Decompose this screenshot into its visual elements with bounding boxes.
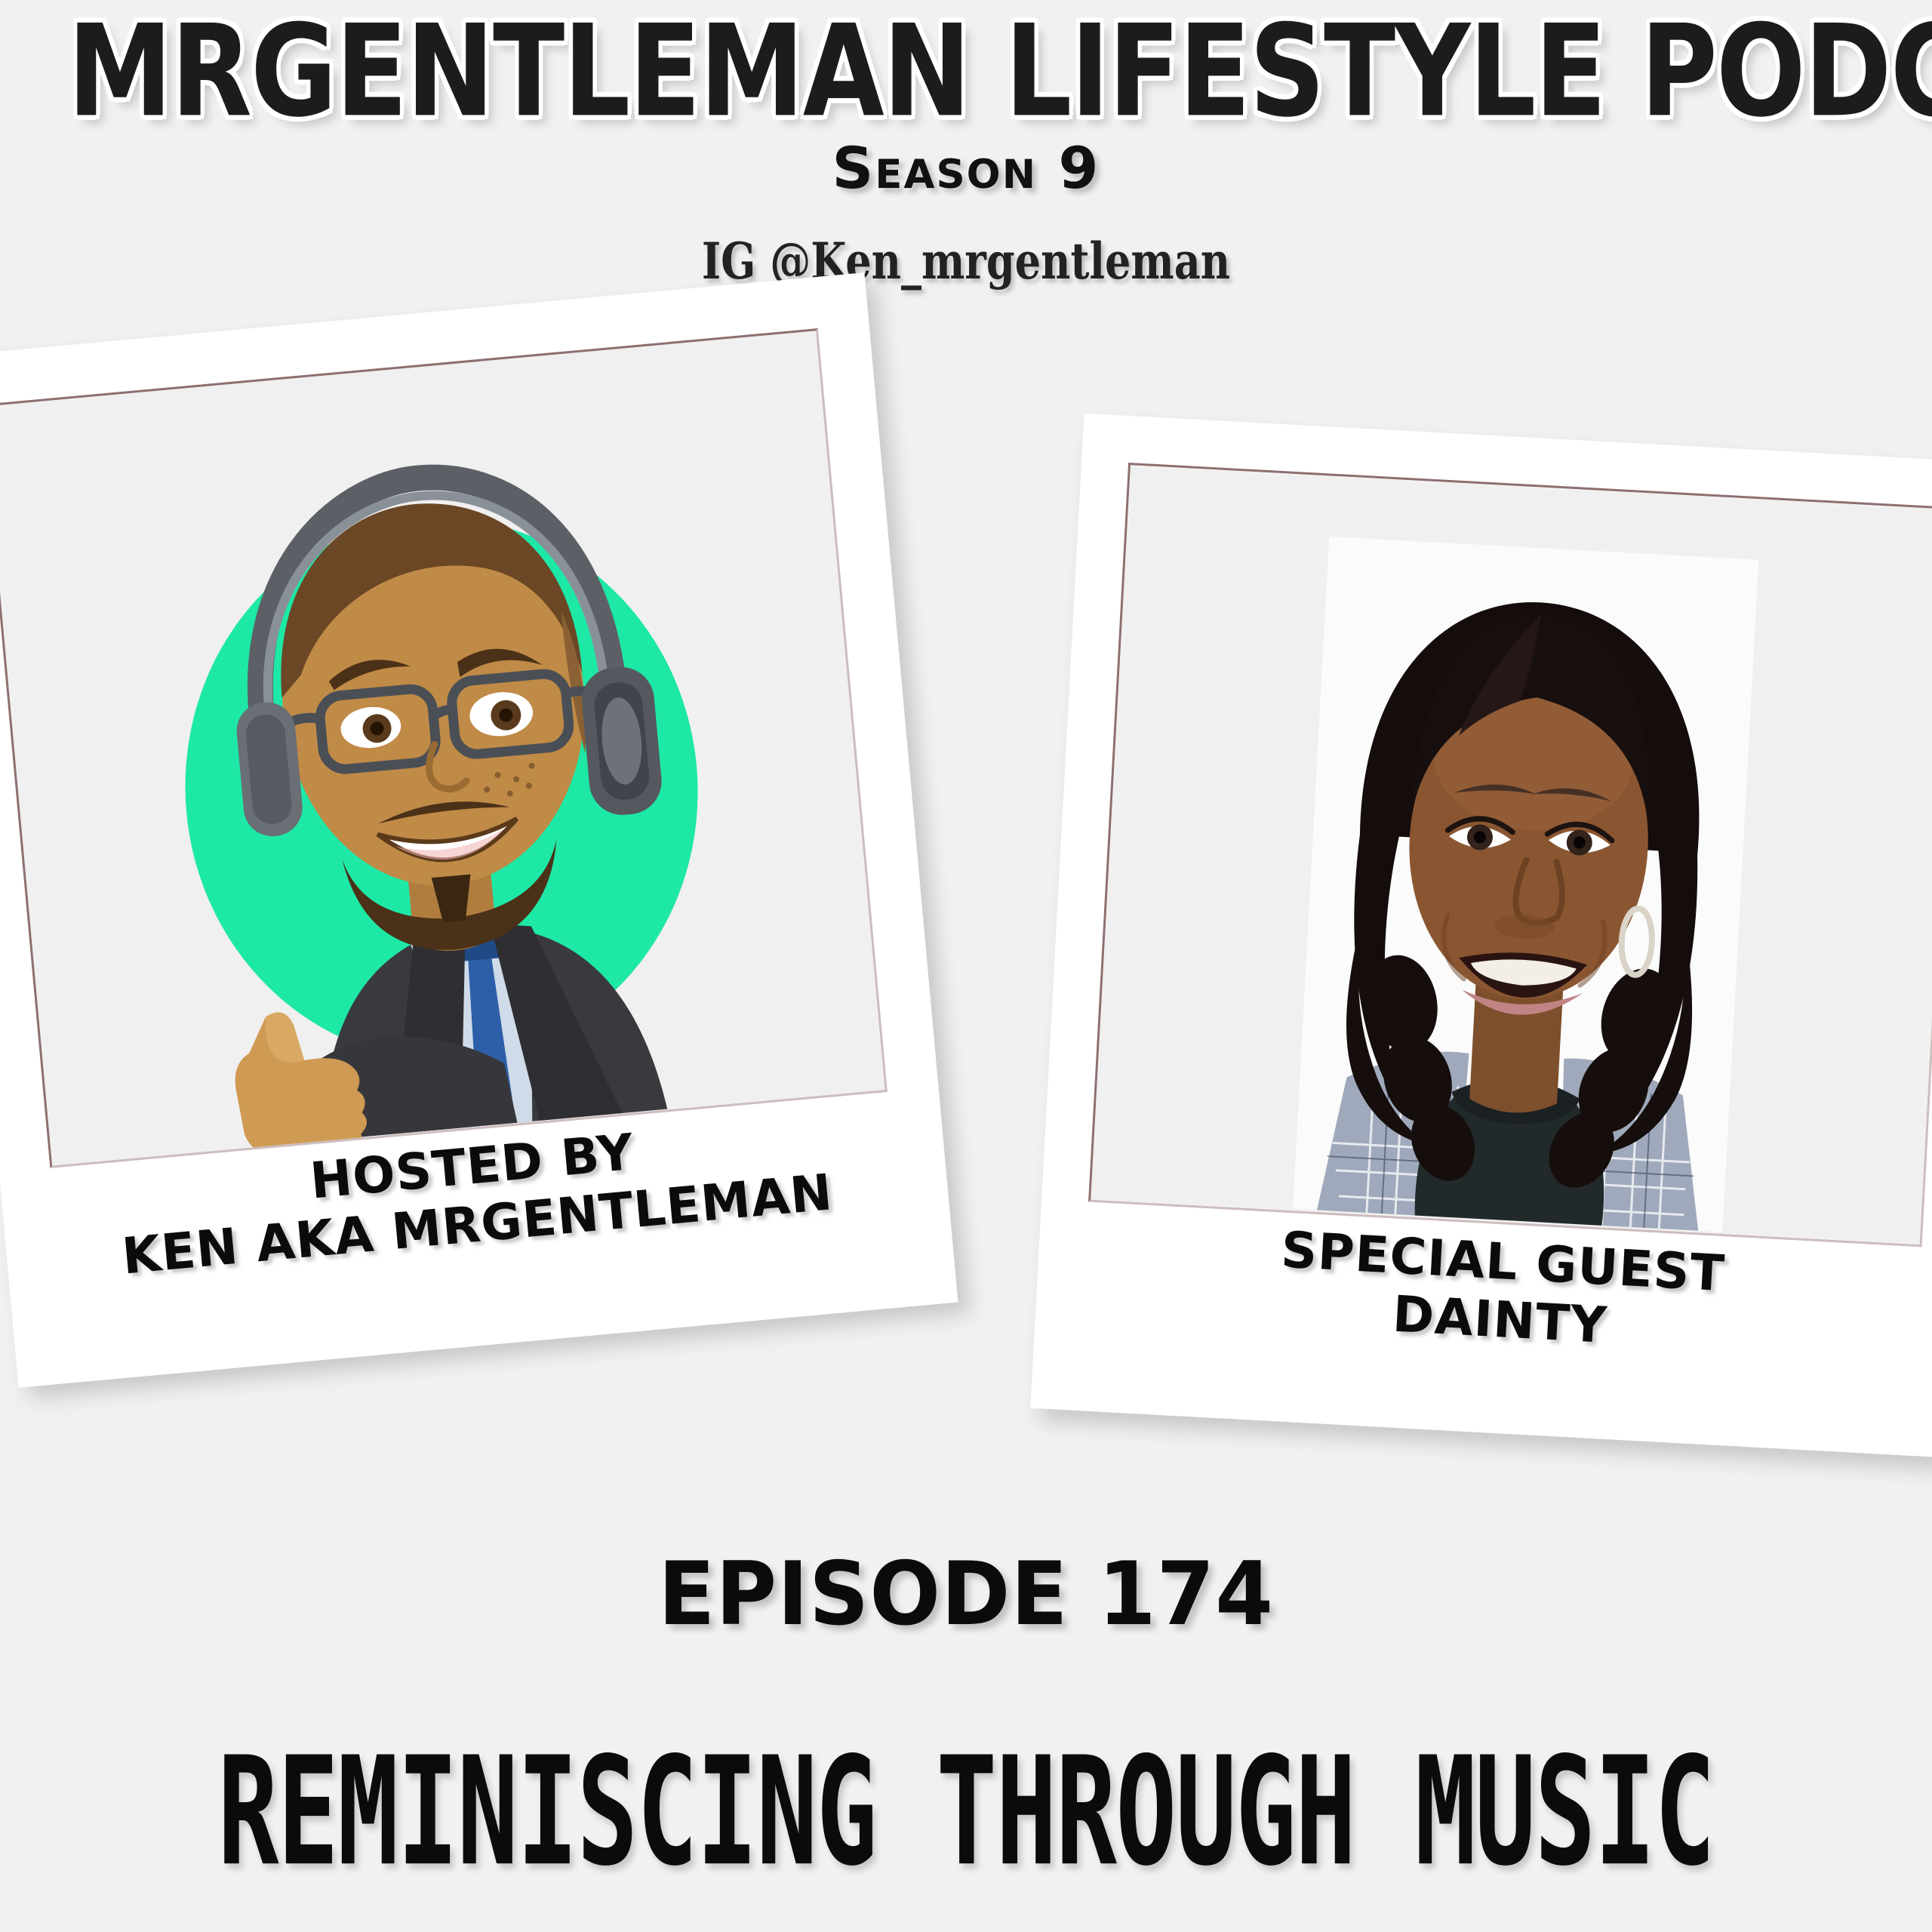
episode-title: REMINISCING THROUGH MUSIC [193,1724,1739,1899]
instagram-handle[interactable]: IG @Ken_mrgentleman [174,202,1758,291]
host-photo-mat [0,328,888,1168]
page-title: MRGENTLEMAN LIFESTYLE PODCAST [68,0,1865,135]
host-polaroid-card: HOSTED BY KEN AKA MRGENTLEMAN [0,272,958,1388]
episode-number: EPISODE 174 [48,1543,1884,1645]
guest-photo [1091,465,1932,1244]
avatar-illustration-icon [0,331,885,1165]
guest-portrait-icon [1091,465,1932,1244]
header: MRGENTLEMAN LIFESTYLE PODCAST Season 9 I… [0,0,1932,291]
host-avatar [0,331,885,1165]
guest-polaroid-card: SPECIAL GUEST DAINTY [1030,414,1932,1459]
guest-photo-mat [1088,463,1932,1247]
